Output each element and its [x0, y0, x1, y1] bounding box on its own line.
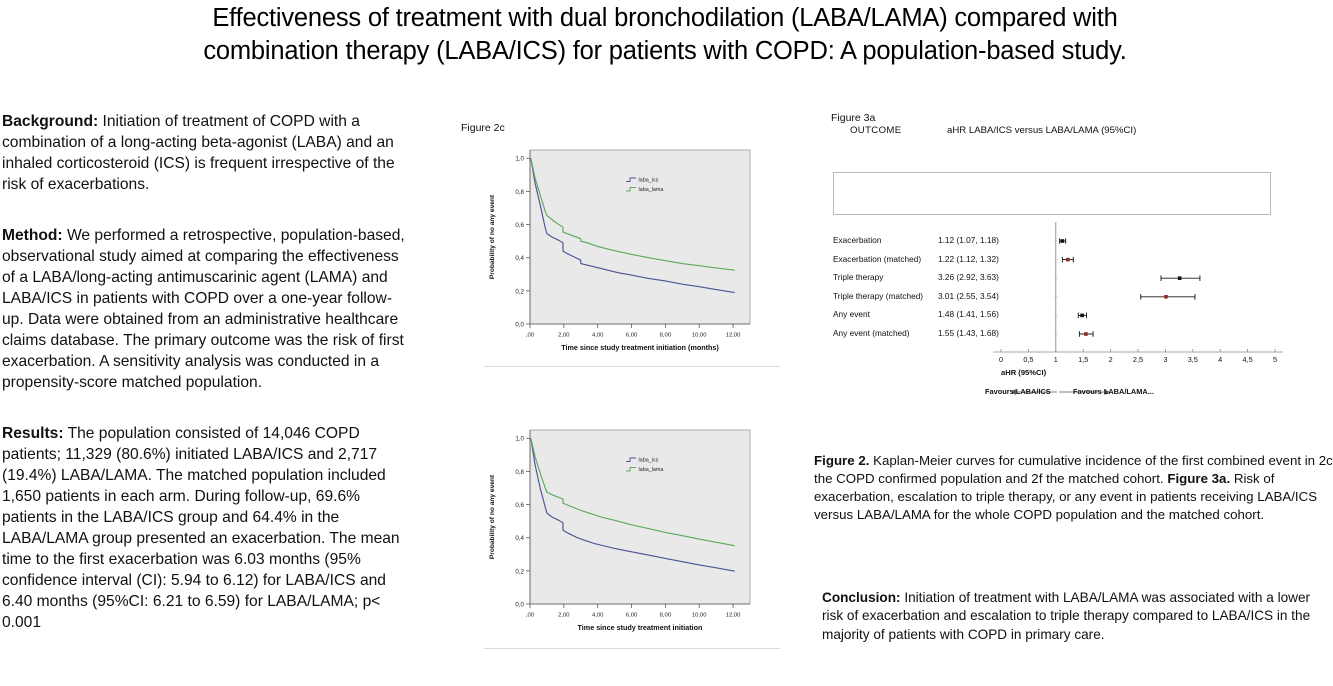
results-heading: Results:: [2, 425, 64, 442]
svg-text:10,00: 10,00: [692, 613, 707, 619]
svg-text:laba_ics: laba_ics: [639, 458, 659, 464]
svg-text:4,00: 4,00: [592, 333, 604, 339]
method-heading: Method:: [2, 227, 63, 244]
poster-canvas: Effectiveness of treatment with dual bro…: [0, 0, 1333, 686]
svg-text:8,00: 8,00: [660, 613, 672, 619]
svg-text:4,00: 4,00: [592, 613, 604, 619]
method-body: We performed a retrospective, population…: [2, 227, 405, 391]
method-paragraph: Method: We performed a retrospective, po…: [2, 226, 412, 394]
results-paragraph: Results: The population consisted of 14,…: [2, 424, 412, 634]
svg-text:laba_lama: laba_lama: [639, 187, 664, 193]
km-chart-2f-svg: 0,00,20,40,60,81,0,002,004,006,008,0010,…: [478, 416, 768, 646]
conclusion-heading: Conclusion:: [822, 590, 901, 605]
figure-caption-block: Figure 2. Kaplan-Meier curves for cumula…: [814, 452, 1333, 524]
svg-text:3: 3: [1163, 355, 1167, 364]
forest-plot-3a: Figure 3a OUTCOME aHR LABA/ICS versus LA…: [805, 110, 1333, 400]
chart-divider-1: [484, 366, 780, 367]
svg-text:1,5: 1,5: [1078, 355, 1088, 364]
caption-fig2-label: Figure 2.: [814, 453, 869, 468]
svg-text:0,4: 0,4: [515, 535, 524, 542]
background-heading: Background:: [2, 113, 98, 130]
favours-left-label: Favours LABA/ICS: [985, 387, 1051, 396]
svg-text:0,0: 0,0: [515, 321, 524, 328]
km-chart-2c: 0,00,20,40,60,81,0,002,004,006,008,0010,…: [478, 136, 768, 366]
chart-divider-2: [484, 648, 780, 649]
svg-text:0,2: 0,2: [515, 568, 524, 575]
svg-text:Time since study treatment ini: Time since study treatment initiation (m…: [561, 343, 719, 352]
svg-text:1,0: 1,0: [515, 436, 524, 443]
svg-text:6,00: 6,00: [626, 333, 638, 339]
svg-text:1: 1: [1054, 355, 1058, 364]
svg-text:,00: ,00: [526, 613, 535, 619]
svg-text:Probability of no any event: Probability of no any event: [489, 194, 496, 279]
background-paragraph: Background: Initiation of treatment of C…: [2, 112, 412, 196]
svg-text:0,8: 0,8: [515, 189, 524, 196]
svg-text:1,0: 1,0: [515, 156, 524, 163]
left-text-column: Background: Initiation of treatment of C…: [2, 112, 412, 686]
caption-fig3a-label: Figure 3a.: [1167, 471, 1230, 486]
forest-axis-title: aHR (95%CI): [1001, 368, 1046, 377]
forest-plot-svg: 00,511,522,533,544,55: [805, 110, 1333, 400]
km-chart-2f: 0,00,20,40,60,81,0,002,004,006,008,0010,…: [478, 416, 768, 646]
figure-2c-label: Figure 2c: [461, 122, 505, 134]
svg-text:5: 5: [1273, 355, 1277, 364]
km-chart-2c-svg: 0,00,20,40,60,81,0,002,004,006,008,0010,…: [478, 136, 768, 366]
svg-text:3,5: 3,5: [1188, 355, 1198, 364]
svg-text:2: 2: [1109, 355, 1113, 364]
svg-text:laba_ics: laba_ics: [639, 178, 659, 184]
favours-right-label: Favours LABA/LAMA...: [1073, 387, 1154, 396]
svg-text:2,5: 2,5: [1133, 355, 1143, 364]
svg-text:laba_lama: laba_lama: [639, 467, 664, 473]
svg-text:0,5: 0,5: [1023, 355, 1033, 364]
svg-text:0: 0: [999, 355, 1003, 364]
svg-text:4,5: 4,5: [1243, 355, 1253, 364]
svg-text:0,0: 0,0: [515, 601, 524, 608]
svg-text:4: 4: [1218, 355, 1222, 364]
svg-text:0,6: 0,6: [515, 502, 524, 509]
svg-text:12,00: 12,00: [726, 333, 741, 339]
svg-text:2,00: 2,00: [558, 613, 570, 619]
svg-text:6,00: 6,00: [626, 613, 638, 619]
svg-text:0,8: 0,8: [515, 469, 524, 476]
svg-text:Probability of no any event: Probability of no any event: [489, 474, 496, 559]
svg-text:2,00: 2,00: [558, 333, 570, 339]
conclusion-block: Conclusion: Initiation of treatment with…: [822, 589, 1333, 644]
svg-text:12,00: 12,00: [726, 613, 741, 619]
svg-text:0,6: 0,6: [515, 222, 524, 229]
svg-text:,00: ,00: [526, 333, 535, 339]
svg-text:0,2: 0,2: [515, 288, 524, 295]
svg-text:Time since study treatment ini: Time since study treatment initiation: [578, 623, 703, 632]
svg-text:8,00: 8,00: [660, 333, 672, 339]
svg-text:0,4: 0,4: [515, 255, 524, 262]
svg-text:10,00: 10,00: [692, 333, 707, 339]
results-body: The population consisted of 14,046 COPD …: [2, 425, 400, 631]
page-title: Effectiveness of treatment with dual bro…: [150, 2, 1180, 68]
